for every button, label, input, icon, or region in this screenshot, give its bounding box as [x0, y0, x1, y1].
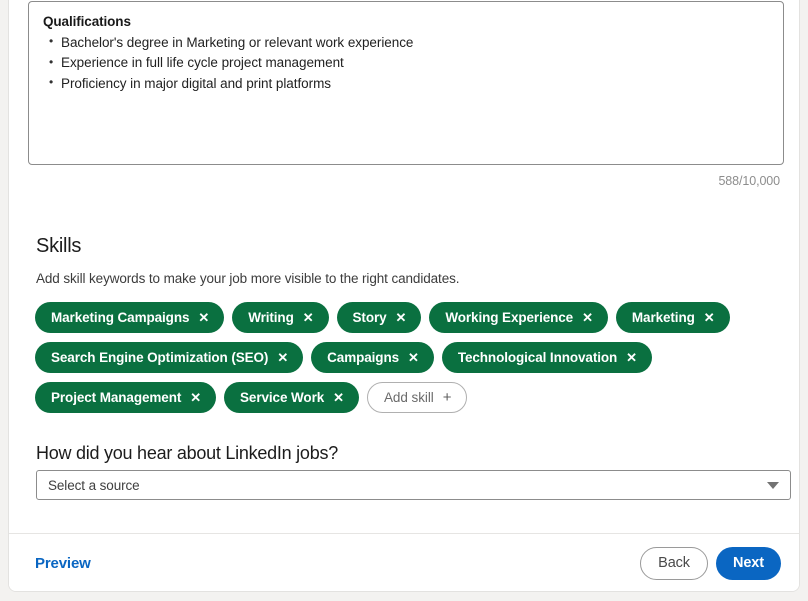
skill-pill-label: Service Work [240, 390, 324, 405]
skills-row: Project Management ✕ Service Work ✕ Add … [35, 380, 795, 414]
skill-pill-campaigns[interactable]: Campaigns ✕ [311, 342, 434, 373]
skill-pill-marketing-campaigns[interactable]: Marketing Campaigns ✕ [35, 302, 224, 333]
skill-pill-story[interactable]: Story ✕ [337, 302, 422, 333]
description-bullet: Proficiency in major digital and print p… [43, 74, 769, 95]
footer-action-group: Back Next [640, 547, 781, 580]
close-icon[interactable]: ✕ [626, 351, 637, 364]
skill-pill-working-experience[interactable]: Working Experience ✕ [429, 302, 608, 333]
source-question-label: How did you hear about LinkedIn jobs? [36, 443, 338, 464]
plus-icon: + [443, 390, 452, 405]
description-section-title: Qualifications [43, 12, 769, 32]
add-skill-button[interactable]: Add skill + [367, 382, 468, 413]
form-footer: Preview Back Next [9, 534, 799, 592]
next-button[interactable]: Next [716, 547, 781, 580]
skills-section-subtitle: Add skill keywords to make your job more… [36, 271, 459, 286]
job-post-card: Qualifications Bachelor's degree in Mark… [8, 0, 800, 592]
close-icon[interactable]: ✕ [582, 311, 593, 324]
back-button[interactable]: Back [640, 547, 708, 580]
source-select[interactable]: Select a source [36, 470, 791, 500]
close-icon[interactable]: ✕ [303, 311, 314, 324]
skill-pill-label: Project Management [51, 390, 181, 405]
skill-pill-writing[interactable]: Writing ✕ [232, 302, 328, 333]
source-select-value: Select a source [48, 478, 767, 493]
job-description-textarea[interactable]: Qualifications Bachelor's degree in Mark… [28, 1, 784, 165]
character-counter: 588/10,000 [718, 174, 780, 188]
close-icon[interactable]: ✕ [408, 351, 419, 364]
close-icon[interactable]: ✕ [704, 311, 715, 324]
skill-pill-label: Campaigns [327, 350, 399, 365]
skill-pill-label: Technological Innovation [458, 350, 617, 365]
description-bullet-list: Bachelor's degree in Marketing or releva… [43, 33, 769, 95]
close-icon[interactable]: ✕ [396, 311, 407, 324]
skill-pill-label: Story [353, 310, 387, 325]
close-icon[interactable]: ✕ [277, 351, 288, 364]
close-icon[interactable]: ✕ [198, 311, 209, 324]
skill-pill-label: Marketing Campaigns [51, 310, 189, 325]
close-icon[interactable]: ✕ [333, 391, 344, 404]
skill-pill-label: Marketing [632, 310, 695, 325]
close-icon[interactable]: ✕ [190, 391, 201, 404]
description-bullet: Bachelor's degree in Marketing or releva… [43, 33, 769, 54]
skills-row: Marketing Campaigns ✕ Writing ✕ Story ✕ … [35, 300, 795, 334]
skill-pill-technological-innovation[interactable]: Technological Innovation ✕ [442, 342, 652, 373]
skill-pill-search-engine-optimization[interactable]: Search Engine Optimization (SEO) ✕ [35, 342, 303, 373]
add-skill-label: Add skill [384, 390, 434, 405]
skills-section-heading: Skills [36, 235, 81, 258]
skills-pill-container: Marketing Campaigns ✕ Writing ✕ Story ✕ … [35, 300, 795, 420]
skill-pill-label: Search Engine Optimization (SEO) [51, 350, 268, 365]
skill-pill-project-management[interactable]: Project Management ✕ [35, 382, 216, 413]
chevron-down-icon[interactable] [767, 482, 779, 489]
description-bullet: Experience in full life cycle project ma… [43, 53, 769, 74]
skills-row: Search Engine Optimization (SEO) ✕ Campa… [35, 340, 795, 374]
skill-pill-marketing[interactable]: Marketing ✕ [616, 302, 730, 333]
form-scroll-area[interactable]: Qualifications Bachelor's degree in Mark… [9, 0, 799, 534]
preview-link[interactable]: Preview [35, 555, 91, 572]
skill-pill-label: Working Experience [445, 310, 573, 325]
skill-pill-label: Writing [248, 310, 294, 325]
skill-pill-service-work[interactable]: Service Work ✕ [224, 382, 359, 413]
